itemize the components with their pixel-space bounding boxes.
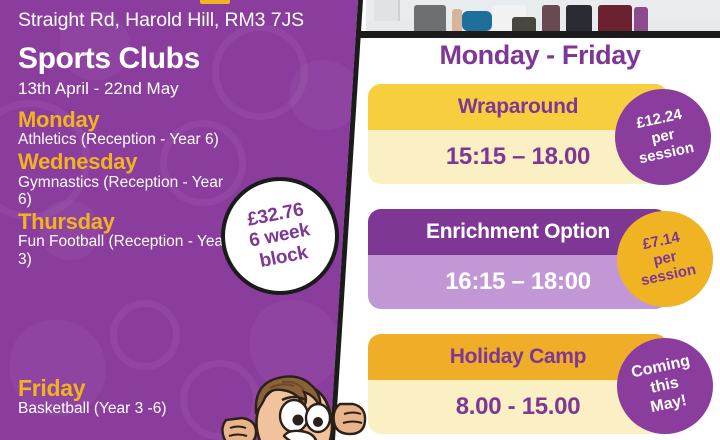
day-activity-thursday: Fun Football (Reception - Year 3) bbox=[18, 233, 233, 268]
watermark-shuttlecock bbox=[110, 300, 180, 370]
day-activity-wednesday: Gymnastics (Reception - Year 6) bbox=[18, 174, 233, 209]
photo-child-1 bbox=[414, 5, 446, 31]
children-photo bbox=[366, 0, 720, 31]
photo-child-5 bbox=[566, 5, 592, 31]
photo-ball bbox=[462, 11, 492, 31]
card-enrichment-name: Enrichment Option bbox=[426, 220, 610, 244]
card-holiday-camp-time: 8.00 - 15.00 bbox=[456, 393, 581, 421]
card-wraparound-name: Wraparound bbox=[458, 95, 578, 119]
day-label-wednesday: Wednesday bbox=[18, 150, 318, 173]
photo-divider-rule bbox=[360, 31, 720, 38]
badge-wraparound-price: £12.24 per session bbox=[615, 89, 711, 185]
page-title: Sports Clubs bbox=[18, 44, 200, 74]
sports-clubs-poster: Monday - Friday Wraparound 15:15 – 18.00… bbox=[0, 0, 720, 440]
photo-child-3-shorts bbox=[512, 17, 536, 31]
badge-enrichment-price: £7.14 per session bbox=[617, 211, 713, 307]
card-holiday-camp-name: Holiday Camp bbox=[450, 345, 586, 369]
day-label-monday: Monday bbox=[18, 108, 318, 131]
day-activity-monday: Athletics (Reception - Year 6) bbox=[18, 131, 233, 148]
list-item: Monday Athletics (Reception - Year 6) bbox=[18, 108, 318, 148]
cut-off-title-fragment bbox=[200, 0, 230, 4]
school-address: Straight Rd, Harold Hill, RM3 7JS bbox=[18, 9, 304, 32]
card-enrichment-time: 16:15 – 18:00 bbox=[445, 268, 591, 296]
badge-holiday-camp-status: Coming this May! bbox=[617, 338, 713, 434]
photo-child-6 bbox=[598, 5, 632, 31]
cartoon-boy-mascot-icon bbox=[218, 366, 368, 440]
badge-block-price: £32.76 6 week block bbox=[221, 177, 339, 295]
photo-child-4 bbox=[542, 5, 560, 31]
card-wraparound-time: 15:15 – 18.00 bbox=[446, 143, 590, 171]
photo-child-2-arm bbox=[452, 9, 462, 31]
date-range: 13th April - 22nd May bbox=[18, 80, 179, 99]
schedule-title: Monday - Friday bbox=[368, 40, 712, 71]
photo-child-7 bbox=[634, 7, 648, 31]
